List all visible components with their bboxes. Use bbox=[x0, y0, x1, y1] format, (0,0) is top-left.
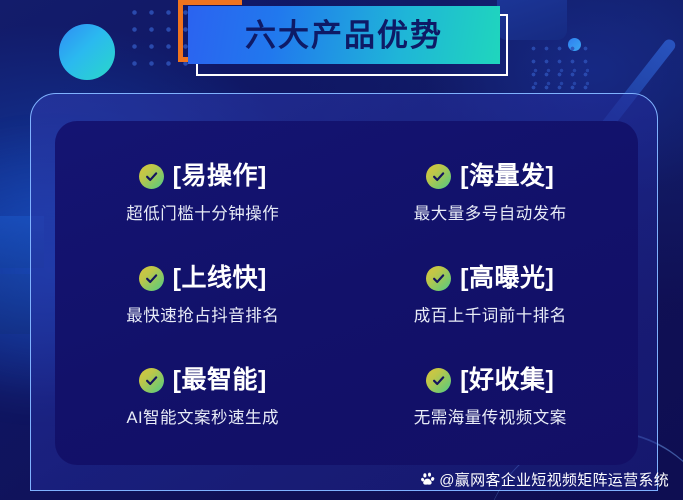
feature-title: [最智能] bbox=[173, 368, 267, 393]
baidu-paw-icon bbox=[421, 472, 436, 487]
feature-title: [好收集] bbox=[460, 368, 554, 393]
check-circle-icon bbox=[139, 266, 164, 291]
feature-grid: [易操作] 超低门槛十分钟操作 [海量发] 最大量多号自动发布 [上线快] 最快… bbox=[55, 121, 638, 465]
feature-item: [海量发] 最大量多号自动发布 bbox=[347, 143, 635, 245]
dot-grid-decoration-right-2 bbox=[527, 62, 589, 94]
feature-description: 无需海量传视频文案 bbox=[414, 404, 567, 428]
poster-canvas: 六大产品优势 [易操作] 超低门槛十分钟操作 [海量发] 最大量多号自动发布 bbox=[0, 0, 683, 500]
feature-heading: [易操作] bbox=[139, 164, 267, 189]
watermark-text: @赢网客企业短视频矩阵运营系统 bbox=[439, 469, 669, 490]
check-circle-icon bbox=[139, 164, 164, 189]
small-dot-decoration bbox=[568, 38, 581, 51]
feature-heading: [上线快] bbox=[139, 266, 267, 291]
feature-item: [易操作] 超低门槛十分钟操作 bbox=[59, 143, 347, 245]
feature-item: [好收集] 无需海量传视频文案 bbox=[347, 347, 635, 449]
feature-heading: [最智能] bbox=[139, 368, 267, 393]
page-title: 六大产品优势 bbox=[245, 20, 443, 51]
feature-description: 最大量多号自动发布 bbox=[414, 200, 567, 224]
feature-item: [上线快] 最快速抢占抖音排名 bbox=[59, 245, 347, 347]
feature-heading: [高曝光] bbox=[426, 266, 554, 291]
feature-item: [高曝光] 成百上千词前十排名 bbox=[347, 245, 635, 347]
watermark: @赢网客企业短视频矩阵运营系统 bbox=[421, 469, 669, 490]
left-block-decoration-2 bbox=[0, 274, 32, 334]
check-circle-icon bbox=[426, 266, 451, 291]
feature-title: [海量发] bbox=[460, 164, 554, 189]
check-circle-icon bbox=[426, 164, 451, 189]
check-circle-icon bbox=[426, 368, 451, 393]
feature-description: AI智能文案秒速生成 bbox=[126, 404, 279, 428]
feature-title: [高曝光] bbox=[460, 266, 554, 291]
title-banner: 六大产品优势 bbox=[188, 6, 506, 74]
banner-gradient-band: 六大产品优势 bbox=[188, 6, 500, 64]
feature-description: 成百上千词前十排名 bbox=[414, 302, 567, 326]
feature-description: 超低门槛十分钟操作 bbox=[126, 200, 279, 224]
dot-grid-decoration-right bbox=[525, 40, 589, 92]
feature-title: [上线快] bbox=[173, 266, 267, 291]
feature-heading: [好收集] bbox=[426, 368, 554, 393]
feature-title: [易操作] bbox=[173, 164, 267, 189]
feature-description: 最快速抢占抖音排名 bbox=[126, 302, 279, 326]
check-circle-icon bbox=[139, 368, 164, 393]
gradient-circle-decoration bbox=[59, 24, 115, 80]
feature-heading: [海量发] bbox=[426, 164, 554, 189]
feature-item: [最智能] AI智能文案秒速生成 bbox=[59, 347, 347, 449]
